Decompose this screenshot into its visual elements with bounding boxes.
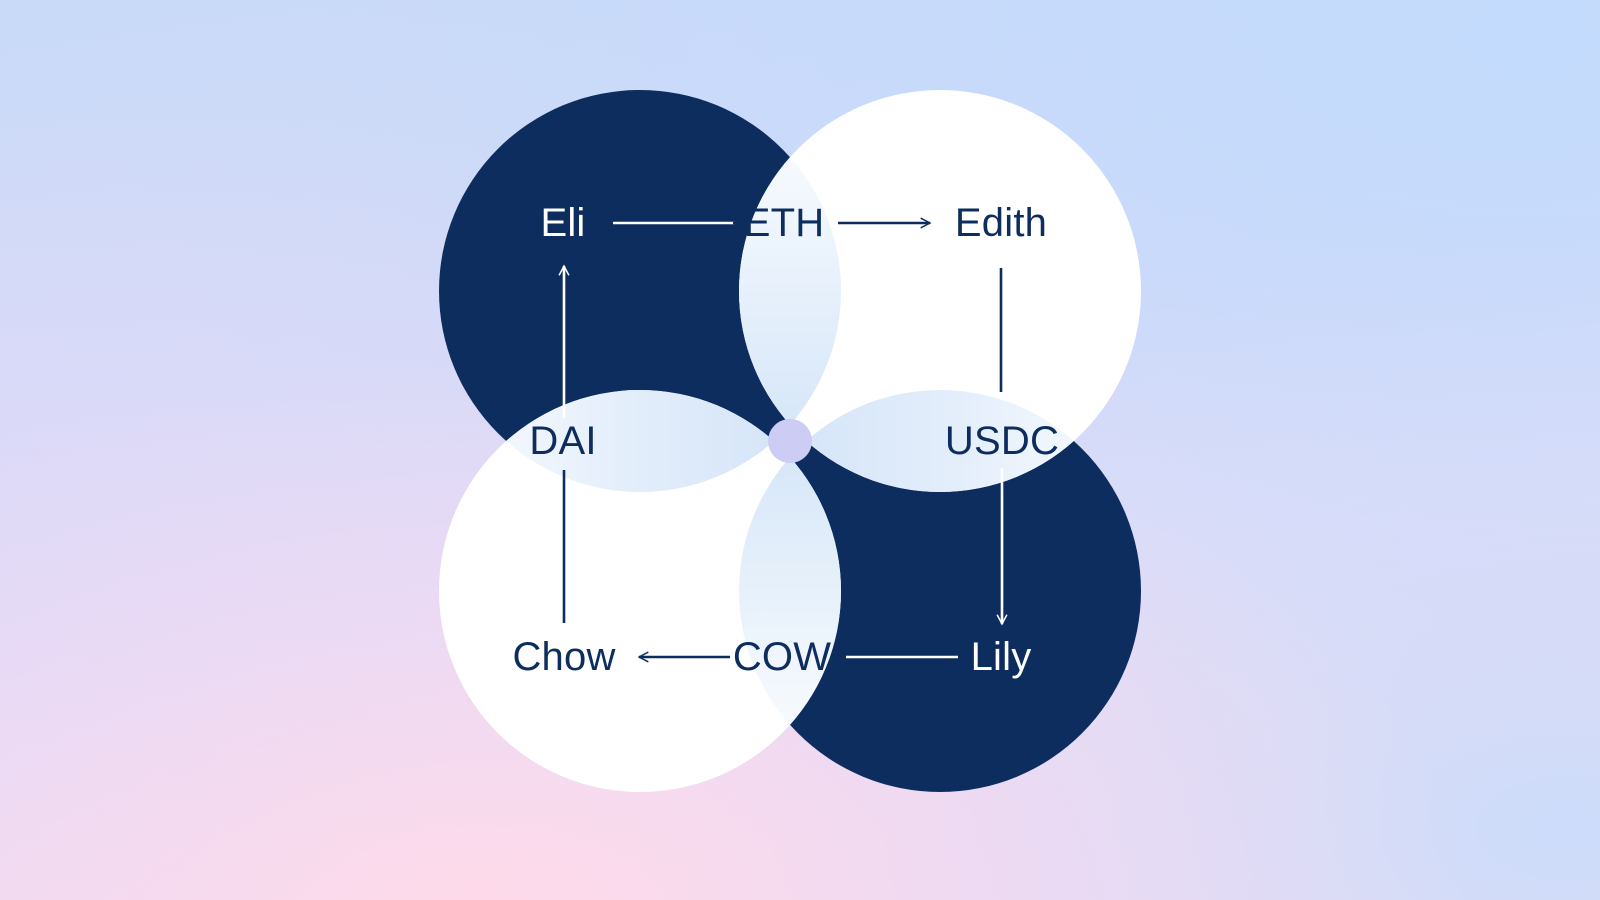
center-dot	[768, 419, 812, 463]
diagram-canvas: Eli ETH Edith DAI USDC Chow COW Lily	[0, 0, 1600, 900]
node-label-chow[interactable]: Chow	[512, 637, 615, 677]
node-label-lily[interactable]: Lily	[971, 637, 1032, 677]
node-label-dai[interactable]: DAI	[529, 421, 596, 461]
node-label-cow[interactable]: COW	[733, 637, 831, 677]
venn-diagram	[0, 0, 1600, 900]
node-label-usdc[interactable]: USDC	[945, 421, 1059, 461]
node-label-eli[interactable]: Eli	[540, 203, 585, 243]
node-label-eth[interactable]: ETH	[744, 203, 825, 243]
node-label-edith[interactable]: Edith	[955, 203, 1047, 243]
